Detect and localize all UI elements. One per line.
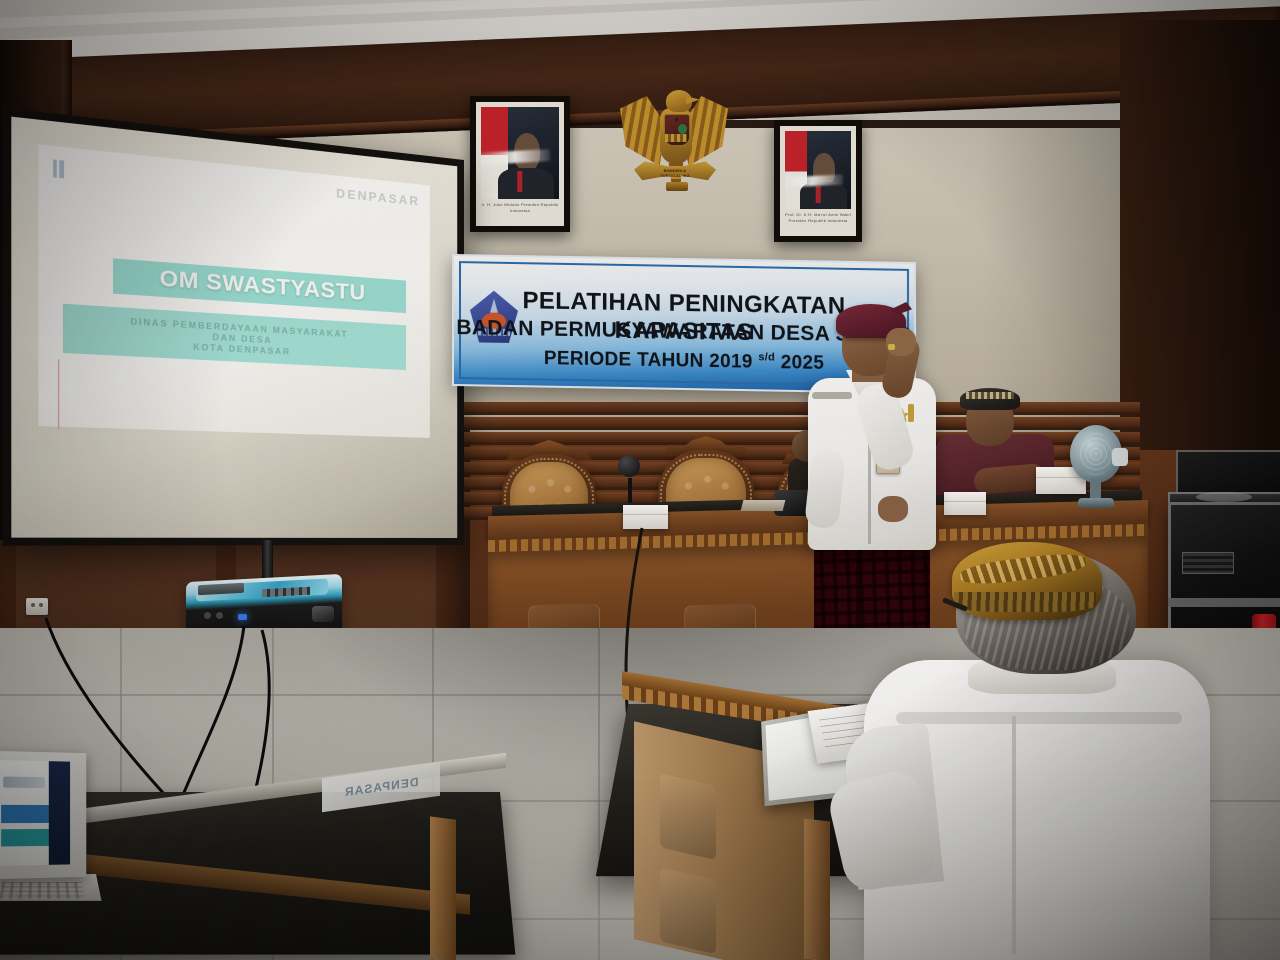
portrait-vice-president: Prof. Dr. K.H. Ma'ruf Amin Wakil Preside… bbox=[774, 120, 862, 242]
fan-control-knob[interactable] bbox=[1112, 448, 1128, 466]
presentation-slide: DENPASAR OM SWASTYASTU DINAS PEMBERDAYAA… bbox=[38, 144, 429, 438]
slide-greeting-band: OM SWASTYASTU bbox=[113, 258, 406, 313]
portrait-president: Ir. H. Joko Widodo Presiden Republik Ind… bbox=[470, 96, 570, 232]
laptop-lid bbox=[0, 751, 86, 879]
slide-org-band: DINAS PEMBERDAYAAN MASYARAKAT DAN DESA K… bbox=[63, 304, 406, 370]
portrait-caption-president: Ir. H. Joko Widodo Presiden Republik Ind… bbox=[481, 202, 559, 214]
desk-carving bbox=[660, 773, 716, 860]
shield-banyan-tree bbox=[678, 124, 687, 134]
banner-period-prefix: PERIODE TAHUN 2019 bbox=[544, 348, 758, 373]
shirt-yoke-seam bbox=[896, 712, 1182, 724]
fan-grill bbox=[1078, 433, 1114, 475]
garuda-pancasila-emblem: BHINNEKA TUNGGAL IKA bbox=[620, 88, 728, 198]
dais-papers bbox=[741, 500, 786, 511]
presenter-ring bbox=[888, 344, 895, 350]
foreground-desk-leg bbox=[804, 819, 830, 960]
foreground-participant bbox=[836, 540, 1216, 960]
slide-watermark: DENPASAR bbox=[336, 186, 420, 209]
flight-case-lid-mark bbox=[1196, 492, 1252, 502]
laptop-screen bbox=[0, 760, 70, 866]
presenter-hand bbox=[886, 328, 916, 356]
shield-chain bbox=[665, 134, 687, 142]
fan-base bbox=[1078, 498, 1114, 508]
meeting-room-photo: Ir. H. Joko Widodo Presiden Republik Ind… bbox=[0, 0, 1280, 960]
laptop-screen-sidebar bbox=[49, 761, 70, 865]
slide-org-line-3: KOTA DENPASAR bbox=[193, 342, 291, 357]
screen-surface: DENPASAR OM SWASTYASTU DINAS PEMBERDAYAA… bbox=[11, 117, 457, 538]
laptop[interactable] bbox=[0, 752, 96, 916]
corner-column-right bbox=[1120, 20, 1280, 450]
gold-bar-pin bbox=[908, 404, 914, 422]
slide-greeting-text: OM SWASTYASTU bbox=[159, 266, 365, 306]
garuda-mount bbox=[666, 182, 688, 191]
udeng-band bbox=[954, 592, 1096, 612]
laptop-slide-logo bbox=[3, 776, 45, 788]
laptop-slide-band-2 bbox=[1, 829, 49, 847]
desk-carving bbox=[660, 867, 716, 954]
shirt-shoulder-tab bbox=[812, 392, 852, 399]
slide-accent-line bbox=[58, 359, 59, 429]
garuda-motto-text: BHINNEKA TUNGGAL IKA bbox=[654, 168, 696, 178]
banner-period-sup: s/d bbox=[758, 351, 775, 363]
projection-screen: DENPASAR OM SWASTYASTU DINAS PEMBERDAYAA… bbox=[3, 108, 464, 546]
table-reflection-text: DENPASAR bbox=[344, 775, 418, 799]
portrait-caption-vice-president: Prof. Dr. K.H. Ma'ruf Amin Wakil Preside… bbox=[785, 212, 851, 224]
laptop-keyboard[interactable] bbox=[0, 882, 85, 899]
shirt-center-crease bbox=[1012, 716, 1016, 954]
laptop-slide-band-1 bbox=[1, 805, 49, 823]
slide-corner-mark bbox=[53, 159, 64, 178]
microphone-head bbox=[618, 455, 640, 477]
left-table-leg bbox=[430, 816, 456, 960]
presenter-lower-hand bbox=[878, 496, 908, 522]
